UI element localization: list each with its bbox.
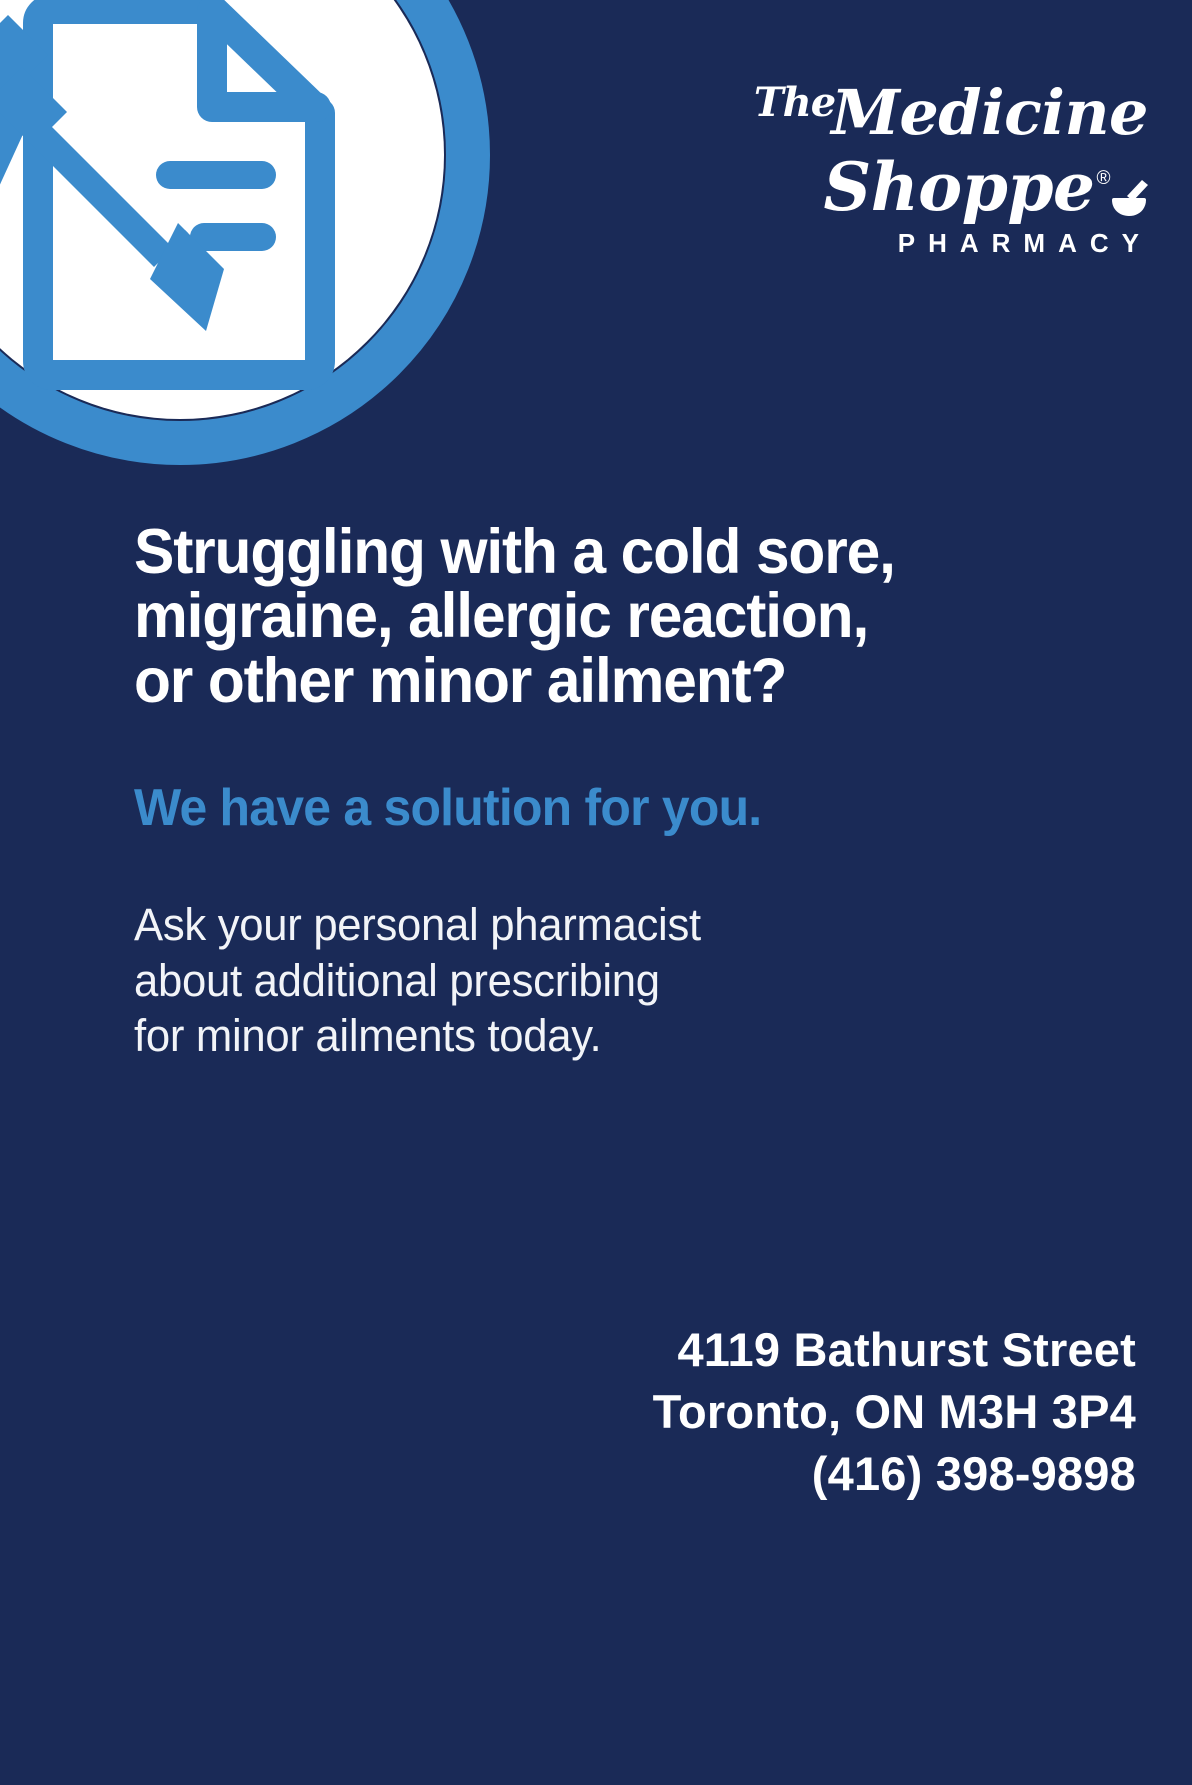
address-phone[interactable]: (416) 398-9898 — [653, 1443, 1136, 1505]
mortar-and-pestle-icon — [1112, 178, 1150, 218]
logo-pharmacy-word: PHARMACY — [732, 228, 1152, 259]
body-line-1: Ask your personal pharmacist — [134, 897, 1092, 952]
logo-the: The — [754, 79, 835, 126]
headline-line-3: or other minor ailment? — [134, 649, 1082, 713]
address-street: 4119 Bathurst Street — [653, 1319, 1136, 1381]
address-city-province-postal: Toronto, ON M3H 3P4 — [653, 1381, 1136, 1443]
page-title: Struggling with a cold sore, migraine, a… — [134, 520, 1082, 713]
document-with-pencil-icon — [0, 0, 490, 465]
logo-word-medicine: Medicine — [831, 76, 1148, 149]
headline-line-2: migraine, allergic reaction, — [134, 584, 1082, 648]
body-line-3: for minor ailments today. — [134, 1008, 1092, 1063]
poster-canvas: TheMedicine Shoppe® PHARMACY Struggling … — [0, 0, 1192, 1785]
registered-mark-icon: ® — [1097, 168, 1111, 189]
headline-line-1: Struggling with a cold sore, — [134, 520, 1082, 584]
brand-logo: TheMedicine Shoppe® PHARMACY — [732, 72, 1152, 259]
subhead-text: We have a solution for you. — [134, 781, 1082, 836]
body-paragraph: Ask your personal pharmacist about addit… — [134, 897, 1092, 1063]
logo-line-medicine: TheMedicine — [732, 72, 1152, 144]
body-line-2: about additional prescribing — [134, 953, 1092, 1008]
copy-block: Struggling with a cold sore, migraine, a… — [134, 520, 1122, 1063]
logo-line-shoppe: Shoppe® — [732, 144, 1152, 222]
store-address-block: 4119 Bathurst Street Toronto, ON M3H 3P4… — [653, 1319, 1136, 1505]
logo-word-shoppe: Shoppe — [824, 148, 1095, 226]
